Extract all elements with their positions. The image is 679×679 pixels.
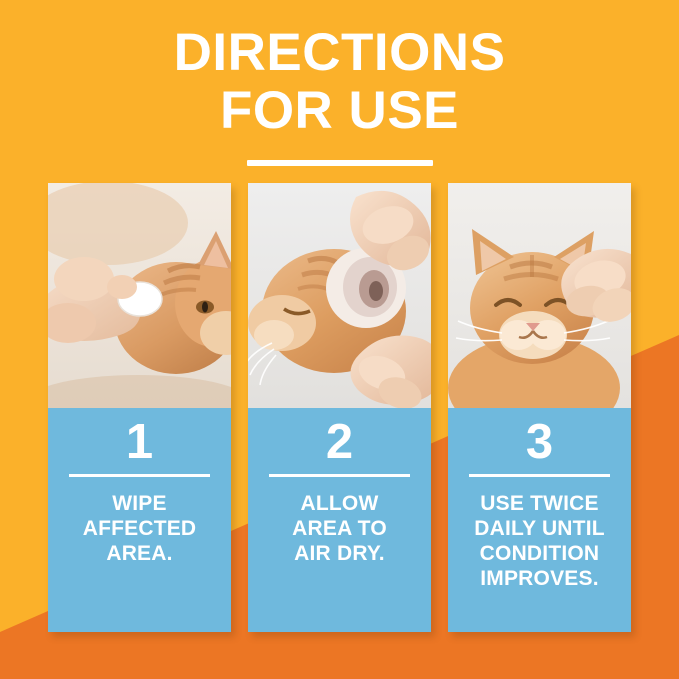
step-2-text: ALLOW AREA TO AIR DRY. xyxy=(248,491,431,566)
step-1-divider-rule xyxy=(69,474,210,477)
step-1-number: 1 xyxy=(48,416,231,468)
step-card-2[interactable]: 2 ALLOW AREA TO AIR DRY. xyxy=(248,183,431,632)
step-3-divider-rule xyxy=(469,474,610,477)
step-3-photo xyxy=(448,183,631,408)
steps-card-row: 1 WIPE AFFECTED AREA. xyxy=(0,0,679,679)
step-2-number: 2 xyxy=(248,416,431,468)
step-1-text: WIPE AFFECTED AREA. xyxy=(48,491,231,566)
step-2-divider-rule xyxy=(269,474,410,477)
step-1-body: 1 WIPE AFFECTED AREA. xyxy=(48,408,231,632)
step-card-1[interactable]: 1 WIPE AFFECTED AREA. xyxy=(48,183,231,632)
step-3-text: USE TWICE DAILY UNTIL CONDITION IMPROVES… xyxy=(448,491,631,591)
step-card-3[interactable]: 3 USE TWICE DAILY UNTIL CONDITION IMPROV… xyxy=(448,183,631,632)
step-3-number: 3 xyxy=(448,416,631,468)
directions-for-use-poster: DIRECTIONS FOR USE xyxy=(0,0,679,679)
step-2-body: 2 ALLOW AREA TO AIR DRY. xyxy=(248,408,431,632)
step-3-body: 3 USE TWICE DAILY UNTIL CONDITION IMPROV… xyxy=(448,408,631,632)
step-2-photo xyxy=(248,183,431,408)
step-1-photo xyxy=(48,183,231,408)
